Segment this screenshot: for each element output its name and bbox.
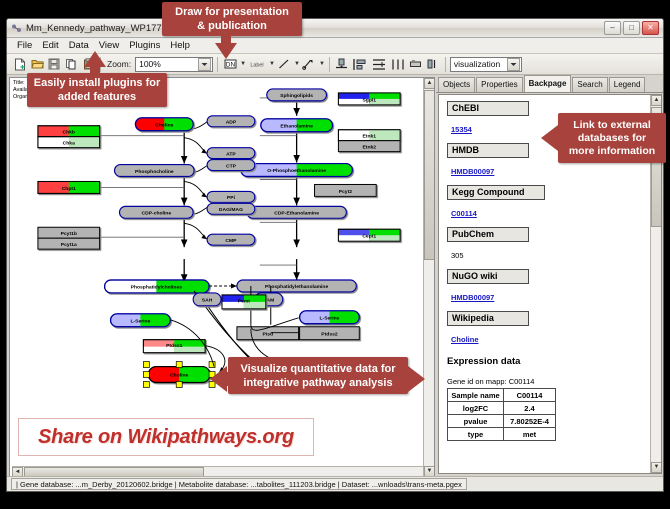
align-left-icon[interactable] — [351, 56, 369, 73]
visualization-chevron-down-icon[interactable] — [507, 58, 520, 71]
hmdb-link[interactable]: HMDB00097 — [451, 167, 494, 176]
node-dagmag: DAG/MAG — [207, 203, 255, 214]
svg-text:SAH: SAH — [202, 298, 213, 304]
node-sphingolipids: Sphingolipids — [267, 89, 327, 101]
pubchem-value: 305 — [451, 251, 464, 260]
line-icon[interactable] — [276, 56, 292, 73]
svg-text:Choline: Choline — [170, 373, 188, 379]
pathway-info-line-2: Availa — [13, 87, 28, 94]
distribute-horizontal-icon[interactable] — [389, 56, 407, 73]
svg-text:CDP-Ethanolamine: CDP-Ethanolamine — [274, 211, 319, 217]
svg-text:PPi: PPi — [227, 195, 236, 201]
links-callout-line-2: databases for — [578, 132, 646, 145]
pubchem-header: PubChem — [447, 227, 529, 242]
plugins-callout: Easily install plugins for added feature… — [27, 73, 167, 107]
gene-sgpl1: Sgpl1 — [338, 93, 400, 105]
chevron-down-icon[interactable] — [198, 58, 211, 71]
chebi-header: ChEBI — [447, 101, 529, 116]
table-row: log2FC 2.4 — [448, 402, 556, 415]
tab-search[interactable]: Search — [572, 77, 607, 92]
app-icon — [11, 23, 22, 34]
wikipedia-header: Wikipedia — [447, 311, 529, 326]
node-ppi: PPi — [207, 191, 255, 202]
gene-pemt: Pemt — [222, 295, 266, 309]
node-l-serine-right: L-Serine — [300, 311, 360, 324]
svg-text:Cept1: Cept1 — [362, 234, 376, 240]
backpage-scroll-down-button[interactable]: ▼ — [651, 462, 662, 473]
visualize-callout-stem-right — [400, 372, 410, 386]
close-button[interactable]: ✕ — [642, 21, 659, 35]
node-phosphatidylcholines: Phosphatidylcholines — [105, 280, 209, 293]
visualize-callout-line-1: Visualize quantitative data for — [240, 362, 395, 376]
svg-text:Phosphatidylcholines: Phosphatidylcholines — [131, 285, 183, 291]
minimize-button[interactable]: – — [604, 21, 621, 35]
line-dropdown-icon[interactable]: ▼ — [294, 61, 300, 67]
scroll-up-button[interactable]: ▲ — [424, 78, 435, 89]
node-sah: SAH — [193, 293, 221, 306]
side-panel-tabs: Objects Properties Backpage Search Legen… — [436, 77, 664, 93]
plugins-callout-line-1: Easily install plugins for — [34, 76, 161, 90]
expression-data-title: Expression data — [447, 356, 650, 367]
node-adp: ADP — [207, 116, 255, 127]
draw-callout-line-1: Draw for presentation — [175, 5, 289, 19]
new-file-icon[interactable] — [12, 56, 28, 73]
gene-etnk1: Etnk1 — [338, 130, 400, 141]
pathway-info-text: Title: Availa Organ — [13, 80, 28, 101]
cell-value: C00114 — [504, 389, 556, 402]
draw-callout: Draw for presentation & publication — [162, 2, 302, 36]
gene-ptdss2: Ptdss2 — [300, 327, 360, 340]
stack-icon[interactable] — [425, 56, 441, 73]
svg-text:Chkb: Chkb — [63, 130, 75, 136]
align-top-icon[interactable] — [334, 56, 350, 73]
gene-pisd: Pisd — [237, 327, 299, 340]
svg-text:DN: DN — [225, 62, 235, 69]
cell-key: log2FC — [448, 402, 504, 415]
kegg-compound-header: Kegg Compound — [447, 185, 545, 200]
node-ctp: CTP — [207, 160, 255, 171]
svg-text:CDP-choline: CDP-choline — [142, 211, 172, 217]
svg-text:CTP: CTP — [226, 163, 237, 169]
copy-icon[interactable] — [63, 56, 79, 73]
svg-text:Label: Label — [250, 62, 263, 68]
canvas-vertical-scrollbar[interactable]: ▲ ▼ — [423, 78, 434, 477]
chebi-link[interactable]: 15354 — [451, 125, 472, 134]
node-l-serine-left: L-Serine — [111, 314, 171, 327]
node-cdp-choline: CDP-choline — [120, 206, 194, 218]
gene-ptdss1: Ptdss1 — [143, 340, 205, 353]
cell-key: Sample name — [448, 389, 504, 402]
gene-pcyt2: Pcyt2 — [315, 184, 377, 196]
wikipedia-link[interactable]: Choline — [451, 335, 479, 344]
svg-text:L-Serine: L-Serine — [320, 315, 340, 321]
visualize-callout-stem-left — [222, 372, 232, 386]
svg-text:Sgpl1: Sgpl1 — [362, 97, 376, 103]
pathway-info-line-3: Organ — [13, 94, 28, 101]
maximize-button[interactable]: □ — [623, 21, 640, 35]
title-bar: Mm_Kennedy_pathway_WP1771_45176.gpml – □… — [7, 19, 663, 38]
group-icon[interactable] — [408, 56, 424, 73]
visualization-value: visualization — [454, 59, 507, 69]
node-o-phosphoethanolamine: O-Phosphoethanolamine — [241, 164, 352, 177]
toolbar-separator-3 — [329, 57, 330, 72]
links-callout-line-3: more information — [569, 145, 655, 158]
gene-chkb: Chkb — [38, 126, 100, 137]
svg-text:L-Serine: L-Serine — [130, 318, 150, 324]
svg-text:Chpt1: Chpt1 — [62, 186, 76, 192]
svg-text:Pcyt1a: Pcyt1a — [61, 242, 77, 248]
gene-chka: Chka — [38, 137, 100, 148]
draw-callout-line-2: & publication — [197, 19, 267, 33]
svg-text:Ptdss1: Ptdss1 — [166, 343, 183, 349]
gene-chpt1: Chpt1 — [38, 181, 100, 193]
interaction-icon[interactable] — [301, 56, 317, 73]
interaction-dropdown-icon[interactable]: ▼ — [319, 61, 325, 67]
svg-text:Phosphocholine: Phosphocholine — [135, 169, 174, 175]
node-phosphatidylethanolamine: Phosphatidylethanolamine — [237, 280, 356, 292]
kegg-compound-link[interactable]: C00114 — [451, 209, 477, 218]
label-icon[interactable]: Label — [247, 56, 267, 73]
table-row: pvalue 7.80252E-4 — [448, 415, 556, 428]
nugo-wiki-header: NuGO wiki — [447, 269, 529, 284]
menu-edit[interactable]: Edit — [37, 38, 63, 53]
cell-key: pvalue — [448, 415, 504, 428]
screenshot-root: Mm_Kennedy_pathway_WP1771_45176.gpml – □… — [0, 0, 670, 509]
table-row: type met — [448, 428, 556, 441]
share-banner-text: Share on Wikipathways.org — [38, 426, 294, 449]
tab-properties[interactable]: Properties — [476, 77, 522, 92]
plugins-callout-arrow — [84, 51, 106, 67]
visualize-callout-line-2: integrative pathway analysis — [243, 376, 392, 390]
svg-text:Sphingolipids: Sphingolipids — [280, 93, 313, 99]
open-folder-icon[interactable] — [29, 56, 45, 73]
gene-etnk2: Etnk2 — [338, 141, 400, 152]
zoom-combobox[interactable]: 100% — [135, 57, 213, 72]
tab-legend[interactable]: Legend — [609, 77, 646, 92]
save-icon[interactable] — [46, 56, 62, 73]
status-text: | Gene database: ...m_Derby_20120602.bri… — [11, 478, 467, 490]
toolbar-separator-4 — [445, 57, 446, 72]
tab-backpage[interactable]: Backpage — [524, 75, 572, 92]
svg-text:Etnk1: Etnk1 — [362, 134, 376, 140]
gene-pcyt1a: Pcyt1a — [38, 238, 100, 249]
svg-text:O-Phosphoethanolamine: O-Phosphoethanolamine — [267, 168, 326, 174]
node-choline-selected: Choline — [148, 367, 210, 383]
svg-text:CMP: CMP — [225, 238, 237, 244]
menu-file[interactable]: File — [12, 38, 37, 53]
svg-text:DAG/MAG: DAG/MAG — [219, 207, 243, 213]
vscroll-thumb[interactable] — [424, 90, 435, 260]
svg-text:Pcyt2: Pcyt2 — [339, 189, 352, 195]
links-callout-arrow-stem — [552, 131, 562, 145]
svg-text:Pemt: Pemt — [238, 298, 250, 304]
links-callout: Link to external databases for more info… — [558, 113, 666, 163]
zoom-label: Zoom: — [107, 59, 131, 69]
svg-text:Ethanolamine: Ethanolamine — [280, 123, 313, 129]
svg-text:Phosphatidylethanolamine: Phosphatidylethanolamine — [265, 284, 328, 290]
svg-text:Chka: Chka — [63, 141, 75, 147]
links-callout-line-1: Link to external — [573, 119, 651, 132]
gene-cept1: Cept1 — [338, 229, 400, 241]
nugo-wiki-link[interactable]: HMDB00097 — [451, 293, 494, 302]
pathway-info-line-1: Title: — [13, 80, 28, 87]
node-phosphocholine: Phosphocholine — [115, 165, 195, 177]
draw-callout-arrow — [215, 43, 237, 59]
node-atp: ATP — [207, 148, 255, 159]
cell-value: 7.80252E-4 — [504, 415, 556, 428]
distribute-vertical-icon[interactable] — [370, 56, 388, 73]
backpage-scroll-up-button[interactable]: ▲ — [651, 95, 662, 106]
node-cmp: CMP — [207, 234, 255, 245]
menu-plugins[interactable]: Plugins — [124, 38, 165, 53]
svg-text:Etnk2: Etnk2 — [362, 145, 376, 151]
datanode-dropdown-icon[interactable]: ▼ — [240, 61, 246, 67]
svg-text:ATP: ATP — [226, 151, 236, 157]
share-banner: Share on Wikipathways.org — [18, 418, 314, 456]
node-cdp-ethanolamine: CDP-Ethanolamine — [247, 206, 347, 218]
node-ethanolamine-top: Ethanolamine — [261, 119, 333, 132]
visualize-callout-arrow-right — [408, 366, 425, 392]
visualization-combobox[interactable]: visualization — [450, 57, 522, 72]
node-choline-top: Choline — [135, 118, 193, 131]
hmdb-header: HMDB — [447, 143, 529, 158]
table-row: Sample name C00114 — [448, 389, 556, 402]
plugins-callout-line-2: added features — [58, 90, 136, 104]
expression-data-table: Sample name C00114 log2FC 2.4 pvalue 7.8… — [447, 388, 556, 441]
status-bar: | Gene database: ...m_Derby_20120602.bri… — [7, 476, 664, 491]
gene-id-line: Gene id on mapp: C00114 — [447, 377, 650, 386]
label-dropdown-icon[interactable]: ▼ — [269, 61, 275, 67]
menu-help[interactable]: Help — [165, 38, 195, 53]
svg-text:Ptdss2: Ptdss2 — [321, 332, 338, 338]
cell-value: met — [504, 428, 556, 441]
svg-text:Pcyt1b: Pcyt1b — [61, 231, 77, 237]
visualize-callout: Visualize quantitative data for integrat… — [228, 357, 408, 394]
zoom-value: 100% — [139, 59, 198, 69]
svg-text:Choline: Choline — [155, 122, 173, 128]
cell-key: type — [448, 428, 504, 441]
cell-value: 2.4 — [504, 402, 556, 415]
window-controls: – □ ✕ — [604, 21, 659, 35]
svg-text:ADP: ADP — [226, 120, 237, 126]
gene-pcyt1b: Pcyt1b — [38, 227, 100, 238]
tab-objects[interactable]: Objects — [438, 77, 475, 92]
